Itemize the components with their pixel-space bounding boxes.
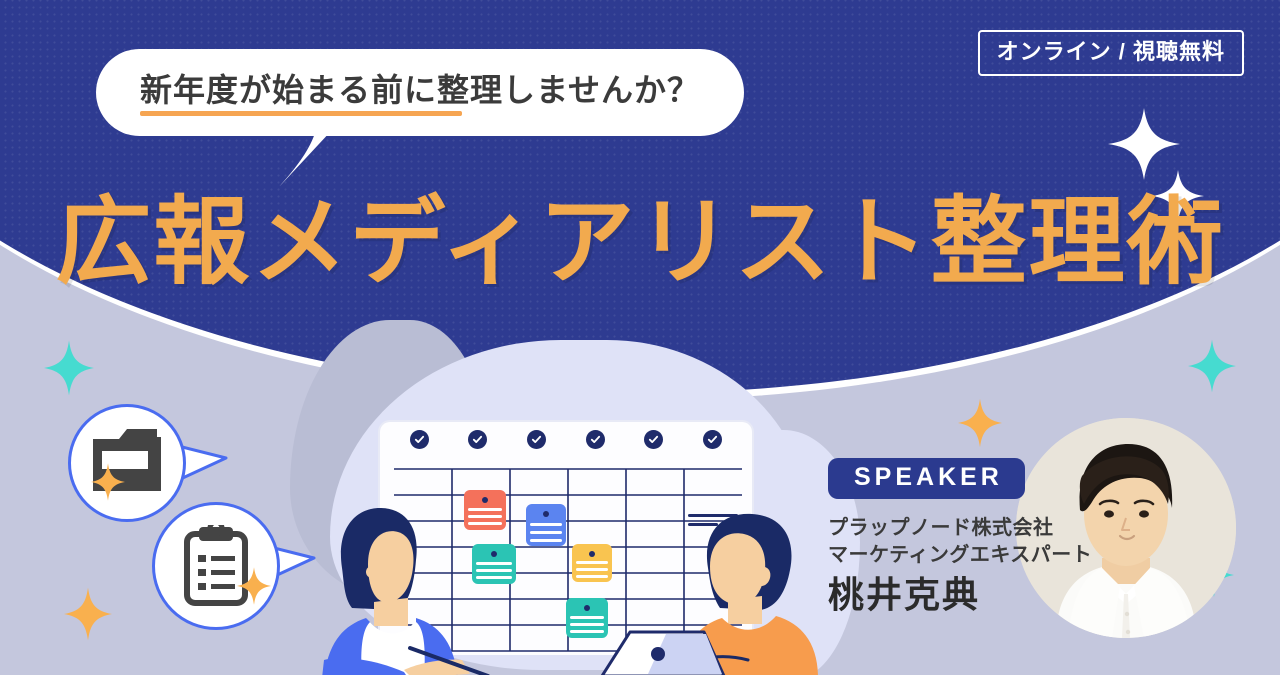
- check-icon: [468, 430, 487, 449]
- woman-presenter-illustration: [312, 498, 497, 675]
- folder-icon-bubble: [68, 404, 186, 522]
- laptop-illustration: [596, 628, 726, 675]
- sparkle-star-icon: [91, 463, 125, 501]
- speech-bubble-tail-icon: [276, 130, 336, 186]
- speech-bubble-body: 新年度が始まる前に整理しませんか？: [96, 49, 744, 136]
- speaker-organization: プラップノード株式会社 マーケティングエキスパート: [828, 515, 1092, 569]
- sparkle-star-icon: [958, 398, 1002, 448]
- sparkle-star-icon: [237, 567, 271, 605]
- speaker-role: マーケティングエキスパート: [828, 542, 1092, 569]
- check-icon: [586, 430, 605, 449]
- check-icon: [703, 430, 722, 449]
- check-icon: [527, 430, 546, 449]
- sparkle-star-icon: [64, 586, 112, 642]
- sparkle-star-icon: [44, 340, 94, 396]
- sticky-note: [526, 504, 566, 546]
- online-free-badge: オンライン / 視聴無料: [978, 30, 1244, 76]
- check-icon: [410, 430, 429, 449]
- speech-bubble-text: 新年度が始まる前に整理しませんか？: [140, 69, 700, 112]
- clipboard-icon-bubble: [152, 502, 280, 630]
- speaker-name: 桃井克典: [828, 575, 1092, 615]
- sticky-note: [572, 544, 612, 582]
- speaker-badge: SPEAKER: [828, 458, 1025, 499]
- speaker-info: SPEAKER プラップノード株式会社 マーケティングエキスパート 桃井克典: [828, 458, 1092, 615]
- checkmark-row: [380, 430, 752, 449]
- speech-bubble: 新年度が始まる前に整理しませんか？: [96, 49, 744, 136]
- speech-bubble-underline: [140, 111, 462, 116]
- sparkle-star-icon: [1188, 338, 1236, 394]
- speaker-company: プラップノード株式会社: [828, 515, 1092, 542]
- promo-banner: オンライン / 視聴無料 新年度が始まる前に整理しませんか？ 広報メディアリスト…: [0, 0, 1280, 675]
- check-icon: [644, 430, 663, 449]
- page-title: 広報メディアリスト整理術: [55, 190, 1224, 296]
